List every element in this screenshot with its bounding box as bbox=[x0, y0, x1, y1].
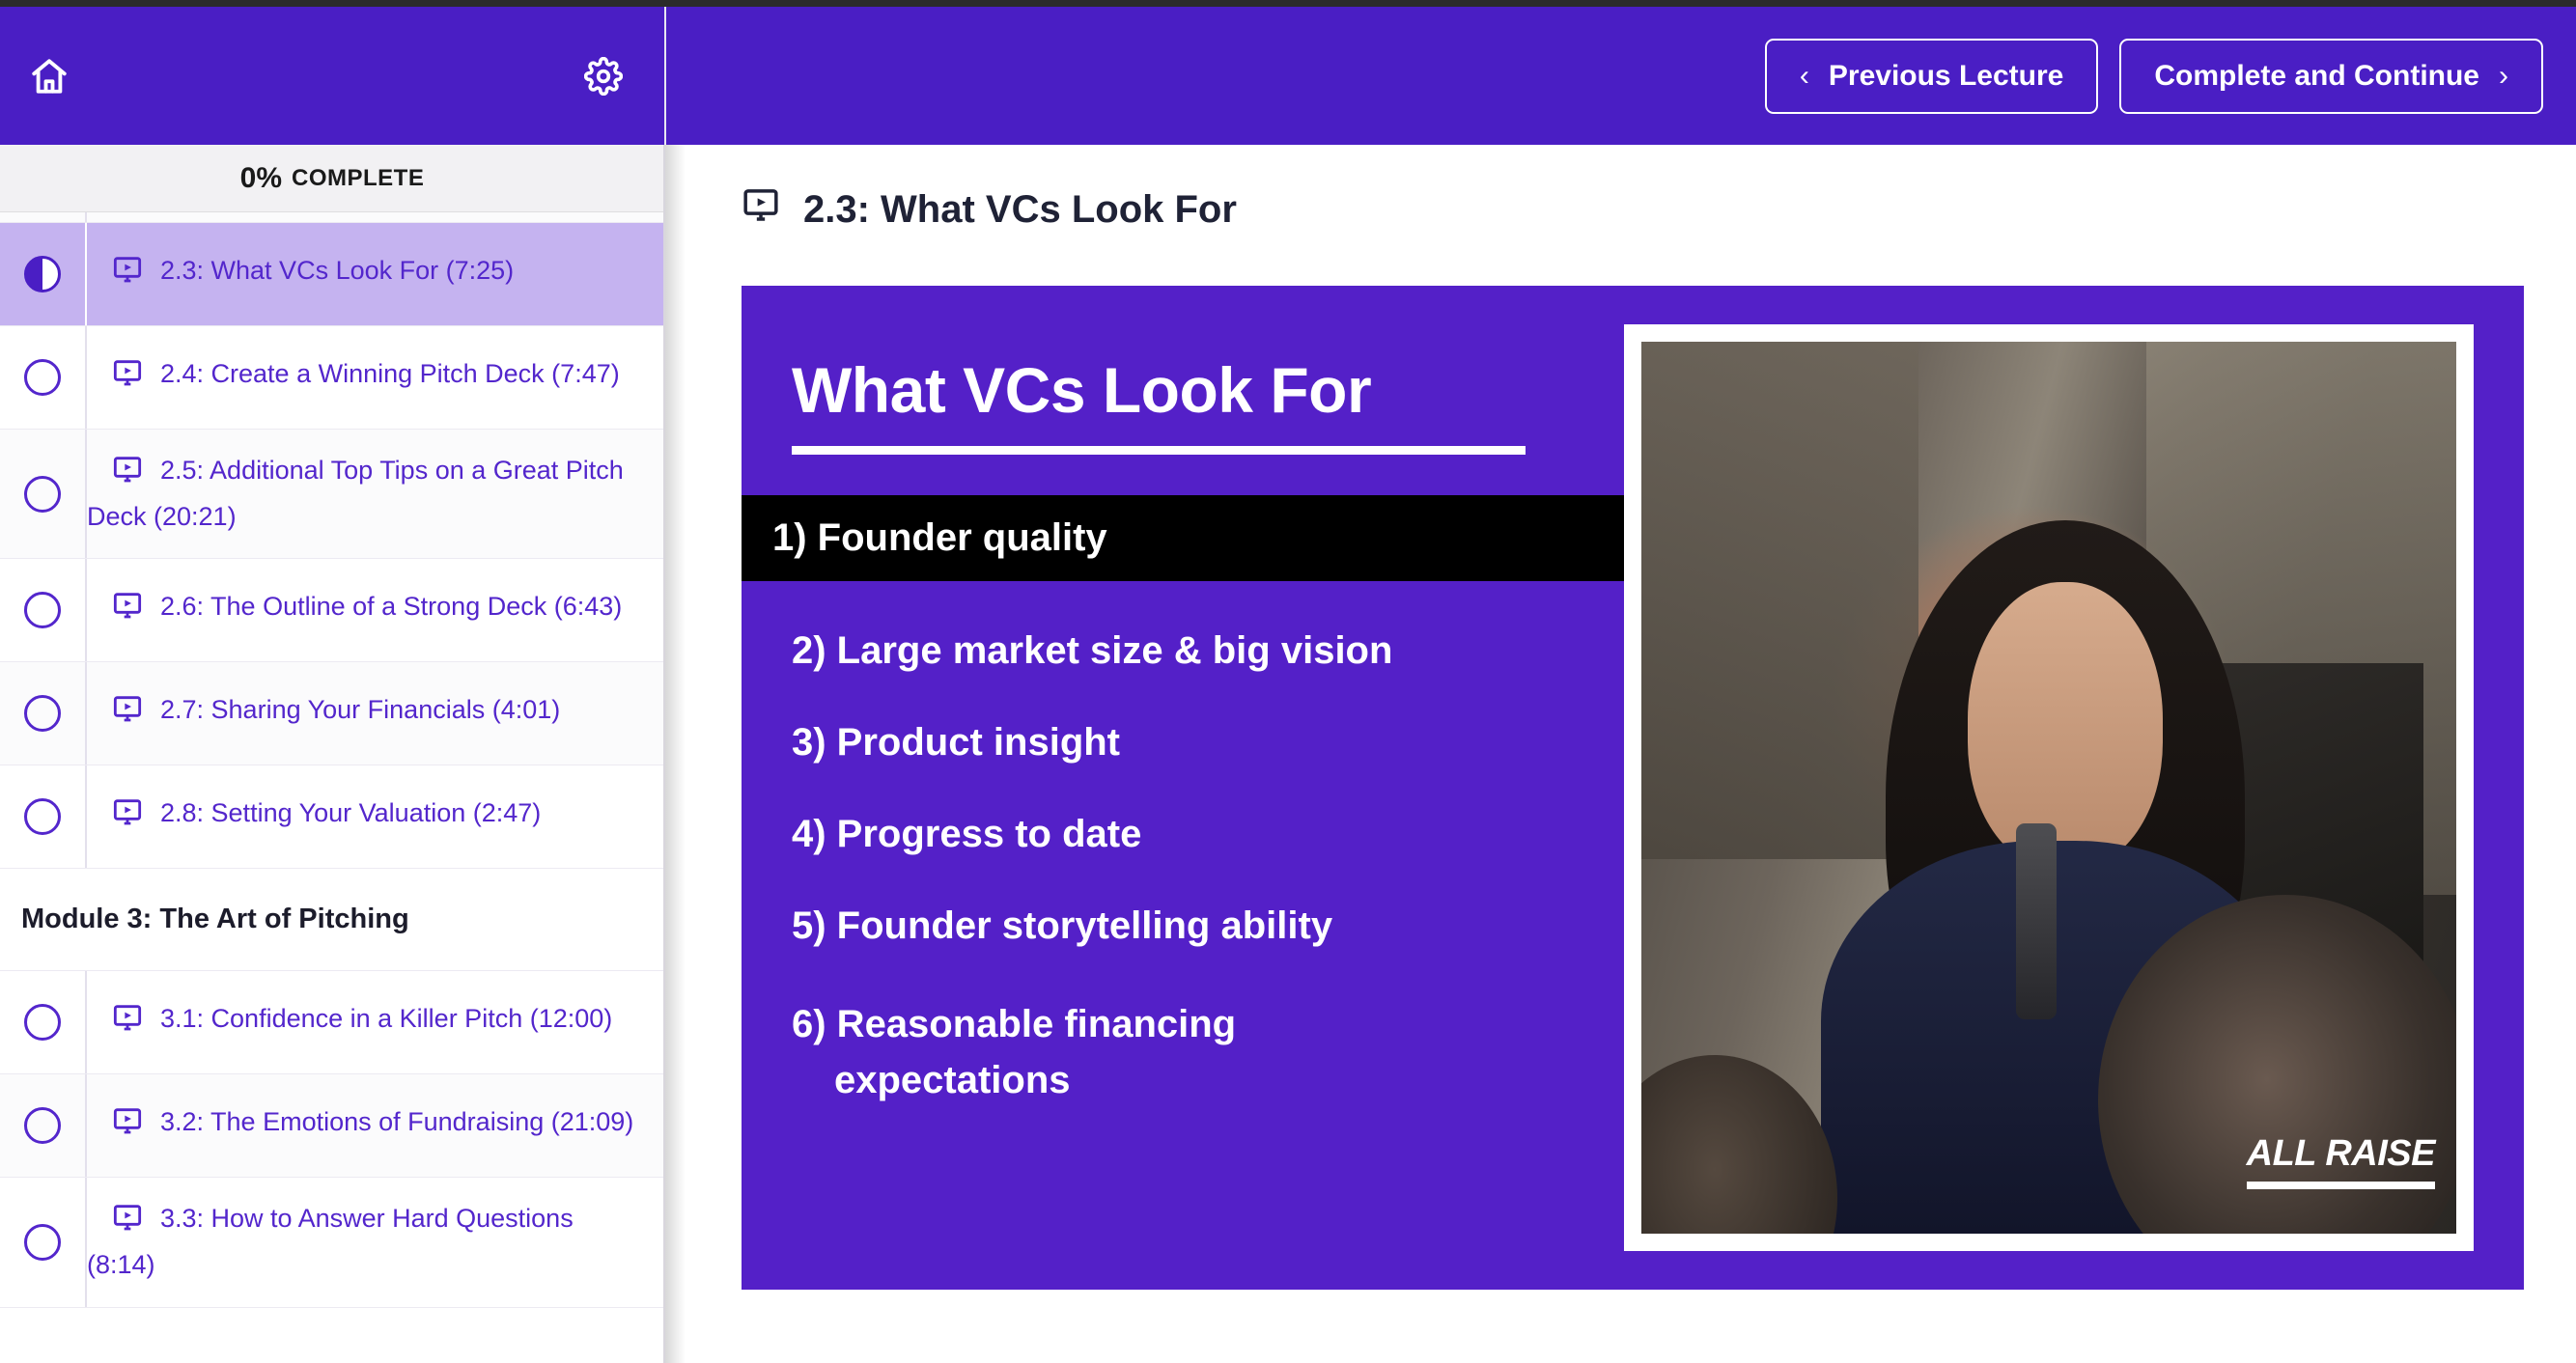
incomplete-circle-icon bbox=[24, 1224, 61, 1261]
watermark-text: ALL RAISE bbox=[2247, 1133, 2435, 1175]
header-nav-buttons: ‹ Previous Lecture Complete and Continue… bbox=[1765, 7, 2543, 145]
video-icon bbox=[112, 454, 143, 497]
list-item[interactable]: 3.2: The Emotions of Fundraising (21:09) bbox=[0, 1074, 664, 1178]
lesson-status[interactable] bbox=[0, 765, 85, 868]
slide-point-5: 5) Founder storytelling ability bbox=[792, 904, 1630, 948]
video-icon bbox=[742, 185, 780, 234]
incomplete-circle-icon bbox=[24, 359, 61, 396]
lesson-body: 2.5: Additional Top Tips on a Great Pitc… bbox=[85, 430, 664, 559]
list-item[interactable]: 3.1: Confidence in a Killer Pitch (12:00… bbox=[0, 971, 664, 1074]
lesson-label: 2.7: Sharing Your Financials (4:01) bbox=[87, 669, 560, 758]
video-icon bbox=[112, 590, 143, 633]
lesson-label: 2.4: Create a Winning Pitch Deck (7:47) bbox=[87, 333, 620, 422]
progress-indicator: 0% COMPLETE bbox=[0, 145, 664, 212]
incomplete-circle-icon bbox=[24, 1107, 61, 1144]
incomplete-circle-icon bbox=[24, 1004, 61, 1041]
main-content: 2.3: What VCs Look For What VCs Look For… bbox=[686, 145, 2576, 1363]
lesson-body: 3.3: How to Answer Hard Questions (8:14) bbox=[85, 1178, 664, 1307]
lesson-status[interactable] bbox=[0, 559, 85, 661]
slide-point-4: 4) Progress to date bbox=[792, 813, 1630, 856]
slide-title-underline bbox=[792, 446, 1526, 455]
video-icon bbox=[112, 254, 143, 297]
speaker-photo: ALL RAISE bbox=[1641, 342, 2456, 1234]
progress-percent: 0% bbox=[240, 162, 282, 195]
list-item[interactable]: 2.7: Sharing Your Financials (4:01) bbox=[0, 662, 664, 765]
lesson-status[interactable] bbox=[0, 1178, 85, 1307]
lesson-body: 3.1: Confidence in a Killer Pitch (12:00… bbox=[85, 971, 664, 1073]
slide-text-column: What VCs Look For 1) Founder quality 2) … bbox=[742, 286, 1630, 1290]
speaker-photo-frame: ALL RAISE bbox=[1624, 324, 2474, 1251]
lesson-label: 2.6: The Outline of a Strong Deck (6:43) bbox=[87, 566, 622, 654]
slide-point-3: 3) Product insight bbox=[792, 721, 1630, 765]
header-left-cluster bbox=[0, 7, 664, 145]
incomplete-circle-icon bbox=[24, 798, 61, 835]
lesson-label: 3.1: Confidence in a Killer Pitch (12:00… bbox=[87, 978, 612, 1067]
list-item[interactable]: 2.8: Setting Your Valuation (2:47) bbox=[0, 765, 664, 869]
lesson-status[interactable] bbox=[0, 662, 85, 765]
previous-lecture-label: Previous Lecture bbox=[1829, 60, 2063, 93]
lesson-status[interactable] bbox=[0, 1074, 85, 1177]
progress-label: COMPLETE bbox=[292, 165, 424, 192]
list-item[interactable]: 2.4: Create a Winning Pitch Deck (7:47) bbox=[0, 326, 664, 430]
video-icon bbox=[112, 1202, 143, 1245]
top-header-bar: ‹ Previous Lecture Complete and Continue… bbox=[0, 7, 2576, 145]
lesson-status[interactable] bbox=[0, 223, 85, 325]
lesson-body: 2.6: The Outline of a Strong Deck (6:43) bbox=[85, 559, 664, 661]
lesson-body: 3.2: The Emotions of Fundraising (21:09) bbox=[85, 1074, 664, 1177]
lesson-list: 2.2: Sharing Your Deck vs. a Good Intro … bbox=[0, 145, 664, 1308]
all-raise-watermark: ALL RAISE bbox=[2247, 1133, 2435, 1189]
lesson-label: 2.8: Setting Your Valuation (2:47) bbox=[87, 772, 541, 861]
sidebar-edge bbox=[663, 145, 665, 1363]
list-item-active[interactable]: 2.3: What VCs Look For (7:25) bbox=[0, 223, 664, 326]
module-title: Module 3: The Art of Pitching bbox=[21, 904, 409, 935]
home-icon[interactable] bbox=[21, 48, 77, 104]
list-item[interactable]: 2.5: Additional Top Tips on a Great Pitc… bbox=[0, 430, 664, 560]
slide-point-6-line1: 6) Reasonable financing bbox=[792, 1003, 1236, 1045]
lesson-label: 2.5: Additional Top Tips on a Great Pitc… bbox=[87, 430, 639, 559]
incomplete-circle-icon bbox=[24, 695, 61, 732]
video-icon bbox=[112, 796, 143, 840]
watermark-underline bbox=[2247, 1182, 2435, 1189]
microphone bbox=[2016, 823, 2057, 1019]
lesson-status[interactable] bbox=[0, 326, 85, 429]
video-player-slide[interactable]: What VCs Look For 1) Founder quality 2) … bbox=[742, 286, 2524, 1290]
slide-point-2: 2) Large market size & big vision bbox=[792, 629, 1630, 673]
page-title: 2.3: What VCs Look For bbox=[742, 185, 2576, 234]
speaker-face bbox=[1968, 582, 2164, 868]
in-progress-circle-icon bbox=[24, 256, 61, 292]
video-icon bbox=[112, 1105, 143, 1149]
incomplete-circle-icon bbox=[24, 476, 61, 513]
complete-and-continue-label: Complete and Continue bbox=[2154, 60, 2479, 93]
chevron-left-icon: ‹ bbox=[1800, 62, 1809, 91]
gear-icon[interactable] bbox=[575, 48, 631, 104]
slide-point-1: 1) Founder quality bbox=[742, 495, 1726, 581]
video-icon bbox=[112, 1002, 143, 1045]
lesson-status[interactable] bbox=[0, 430, 85, 559]
slide-point-6: 6) Reasonable financing expectations bbox=[792, 996, 1390, 1108]
slide-point-6-line2: expectations bbox=[792, 1052, 1390, 1108]
window-top-strip bbox=[0, 0, 2576, 7]
lesson-body: 2.8: Setting Your Valuation (2:47) bbox=[85, 765, 664, 868]
lesson-label: 3.2: The Emotions of Fundraising (21:09) bbox=[87, 1081, 633, 1170]
list-item[interactable]: 2.6: The Outline of a Strong Deck (6:43) bbox=[0, 559, 664, 662]
course-player-page: ‹ Previous Lecture Complete and Continue… bbox=[0, 0, 2576, 1363]
module-header: Module 3: The Art of Pitching bbox=[0, 869, 664, 971]
lesson-status[interactable] bbox=[0, 971, 85, 1073]
lesson-body: 2.3: What VCs Look For (7:25) bbox=[85, 223, 664, 325]
course-sidebar[interactable]: 2.2: Sharing Your Deck vs. a Good Intro … bbox=[0, 145, 664, 1363]
lesson-label: 3.3: How to Answer Hard Questions (8:14) bbox=[87, 1178, 639, 1307]
header-divider bbox=[664, 7, 666, 145]
video-icon bbox=[112, 693, 143, 737]
complete-and-continue-button[interactable]: Complete and Continue › bbox=[2119, 39, 2543, 114]
sidebar-shadow bbox=[664, 145, 686, 1363]
list-item[interactable]: 3.3: How to Answer Hard Questions (8:14) bbox=[0, 1178, 664, 1308]
lesson-label: 2.3: What VCs Look For (7:25) bbox=[87, 230, 514, 319]
incomplete-circle-icon bbox=[24, 592, 61, 628]
previous-lecture-button[interactable]: ‹ Previous Lecture bbox=[1765, 39, 2098, 114]
video-icon bbox=[112, 357, 143, 401]
lesson-body: 2.7: Sharing Your Financials (4:01) bbox=[85, 662, 664, 765]
page-title-text: 2.3: What VCs Look For bbox=[803, 188, 1237, 232]
lesson-body: 2.4: Create a Winning Pitch Deck (7:47) bbox=[85, 326, 664, 429]
audience-head-left bbox=[1641, 1055, 1837, 1234]
slide-title: What VCs Look For bbox=[792, 353, 1630, 427]
photo-wall-left bbox=[1641, 342, 1918, 859]
chevron-right-icon: › bbox=[2499, 62, 2508, 91]
